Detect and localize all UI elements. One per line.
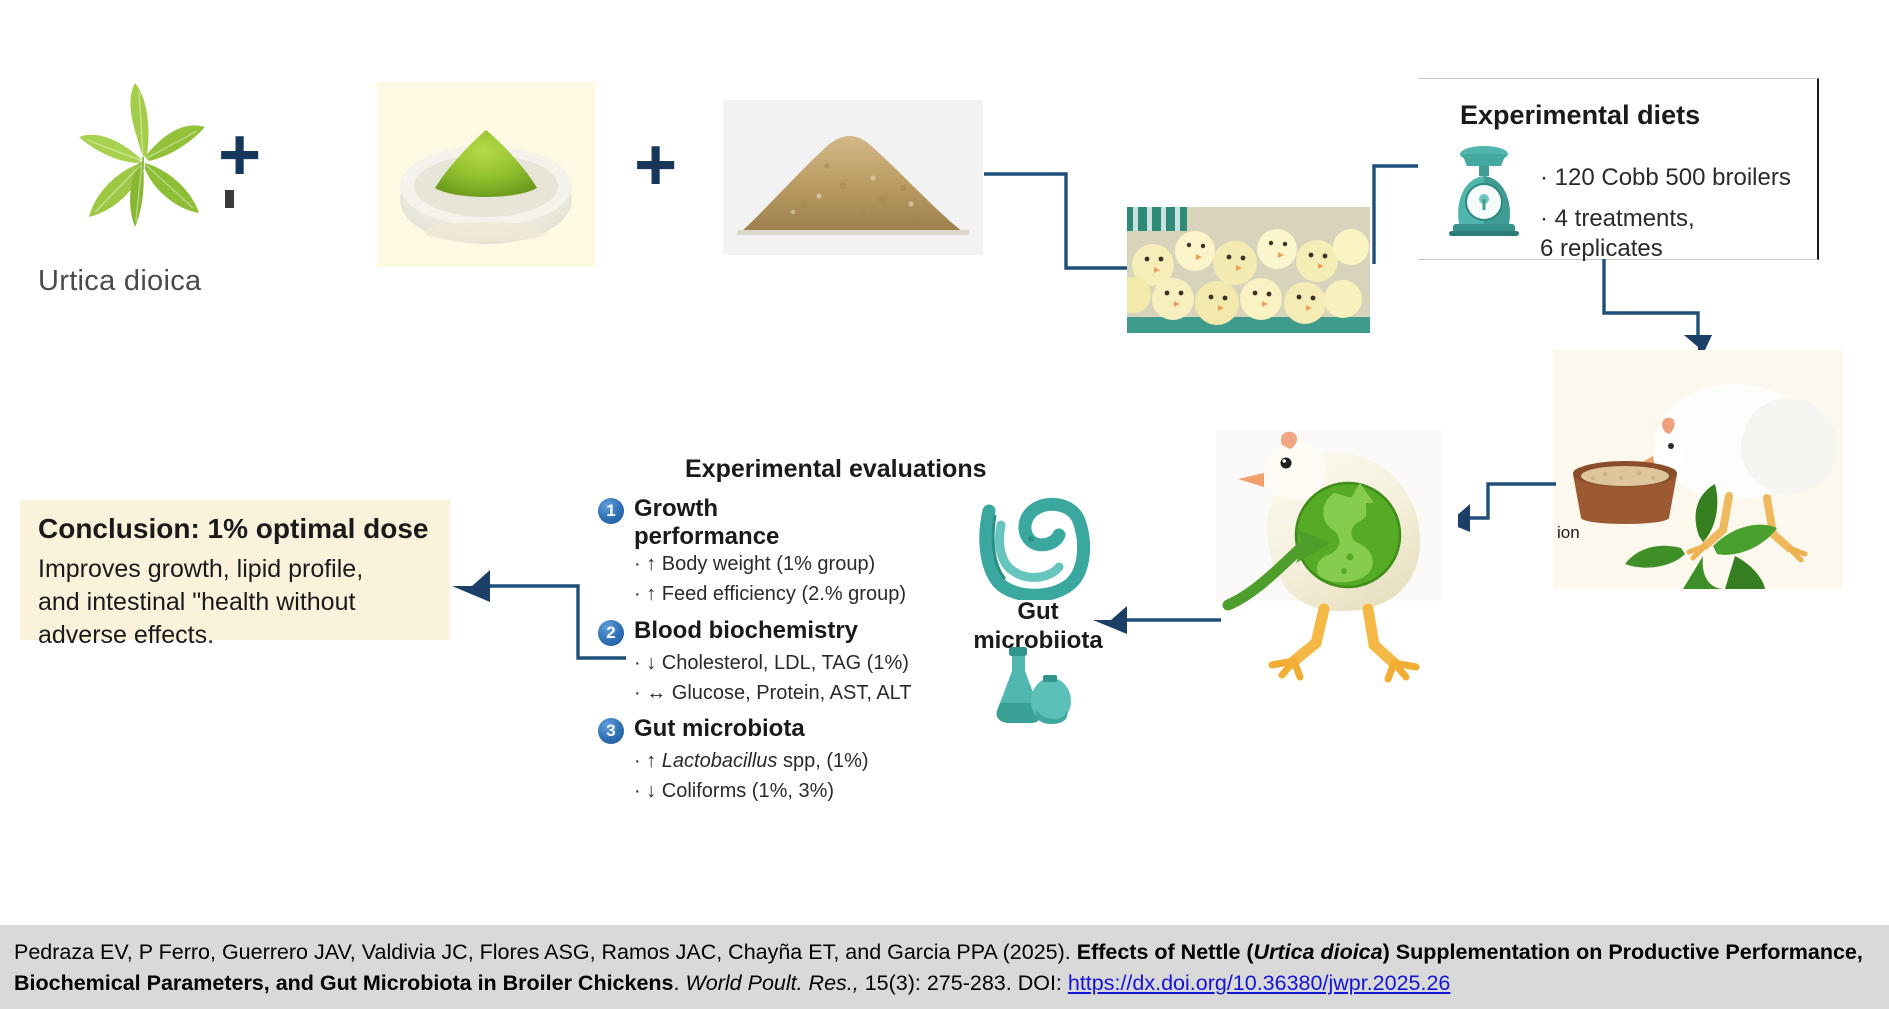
feed-meal-photo [723,100,983,255]
diet-bullet-1: · 4 treatments, [1540,204,1695,235]
doi-link[interactable]: https://dx.doi.org/10.36380/jwpr.2025.26 [1068,971,1451,995]
citation-title-part1: Effects of Nettle ( [1077,940,1254,964]
eval-heading-1: Growth performance [634,495,779,552]
eval-sub-3-1: · ↓ Coliforms (1%, 3%) [634,780,834,803]
citation-bar: Pedraza EV, P Ferro, Guerrero JAV, Valdi… [0,925,1889,1009]
plus-sign-2: + [634,128,677,202]
conclusion-body: Improves growth, lipid profile, and inte… [38,553,388,652]
arrow-evaluations-to-conclusion [430,560,630,670]
broiler-chicks-photo [1127,207,1370,333]
eval-number-1: 1 [598,498,624,524]
citation-volume-pages: 15(3): 275-283. DOI: [859,971,1068,995]
eval-sub-2-1: · ↔ Glucose, Protein, AST, ALT [634,682,912,705]
chicken-digestion-illustration [1208,425,1458,690]
nettle-powder-photo [377,82,595,267]
eval-sub-2-0: · ↓ Cholesterol, LDL, TAG (1%) [634,652,909,675]
experimental-evaluations-title: Experimental evaluations [685,455,987,484]
diet-bullet-0: · 120 Cobb 500 broilers [1540,163,1791,194]
feeding-hen-photo: ion [1553,350,1843,589]
kitchen-scale-icon [1443,142,1525,238]
eval-heading-3: Gut microbiota [634,715,805,743]
nettle-plant-icon [55,65,235,240]
graphical-abstract-canvas: + Urtica dioica + [0,0,1889,1009]
plus-sign-1: + [218,118,261,192]
eval-sub-3-0: · ↑ Lactobacillus spp, (1%) [634,750,869,773]
intestine-icon [975,495,1095,600]
citation-text: Pedraza EV, P Ferro, Guerrero JAV, Valdi… [14,937,1875,999]
eval-sub-1-1: · ↑ Feed efficiency (2.% group) [634,583,906,606]
citation-title-species: Urtica dioica [1254,940,1383,964]
citation-authors: Pedraza EV, P Ferro, Guerrero JAV, Valdi… [14,940,1077,964]
species-label: Urtica dioica [38,265,201,298]
eval-heading-2: Blood biochemistry [634,617,858,645]
feeding-overlay-fragment: ion [1557,523,1580,542]
eval-number-3: 3 [598,718,624,744]
experimental-diets-title: Experimental diets [1460,100,1700,131]
conclusion-title: Conclusion: 1% optimal dose [38,513,428,545]
citation-journal: World Poult. Res., [685,971,858,995]
lactobacillus-species-name: Lactobacillus [662,750,778,772]
lab-flask-icon [985,645,1077,725]
eval-sub-1-0: · ↑ Body weight (1% group) [634,553,875,576]
citation-title-period: . [674,971,686,995]
